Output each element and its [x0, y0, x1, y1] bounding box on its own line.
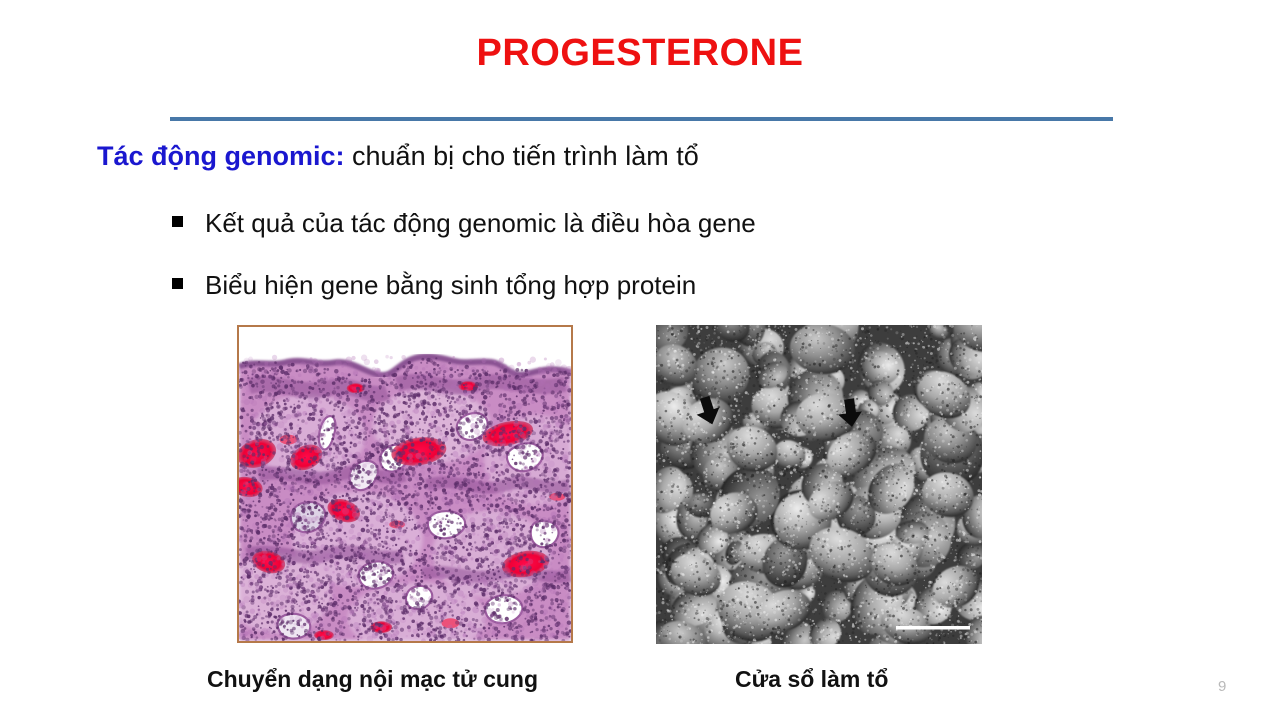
lead-paragraph: Tác động genomic: chuẩn bị cho tiến trìn… — [97, 138, 1157, 174]
figure-caption-left: Chuyển dạng nội mạc tử cung — [207, 666, 538, 693]
scale-bar — [896, 626, 970, 630]
slide-canvas: PROGESTERONE Tác động genomic: chuẩn bị … — [0, 0, 1280, 720]
bullet-item-0: Kết quả của tác động genomic là điều hòa… — [172, 208, 1172, 239]
square-bullet-icon — [172, 216, 183, 227]
bullet-item-1: Biểu hiện gene bằng sinh tổng hợp protei… — [172, 270, 1172, 301]
sem-image — [656, 325, 982, 644]
page-number: 9 — [1218, 678, 1226, 695]
histology-image — [239, 327, 571, 641]
lead-emphasis-text: Tác động genomic: — [97, 141, 345, 171]
page-title: PROGESTERONE — [0, 33, 1280, 75]
figure-caption-right: Cửa sổ làm tổ — [735, 666, 888, 693]
bullet-item-1-label: Biểu hiện gene bằng sinh tổng hợp protei… — [205, 270, 696, 301]
title-divider-rule — [170, 117, 1113, 121]
lead-rest-text: chuẩn bị cho tiến trình làm tổ — [345, 141, 699, 171]
bullet-item-0-label: Kết quả của tác động genomic là điều hòa… — [205, 208, 756, 239]
pinopode-sem-micrograph — [656, 325, 982, 644]
endometrium-histology-micrograph — [237, 325, 573, 643]
square-bullet-icon — [172, 278, 183, 289]
